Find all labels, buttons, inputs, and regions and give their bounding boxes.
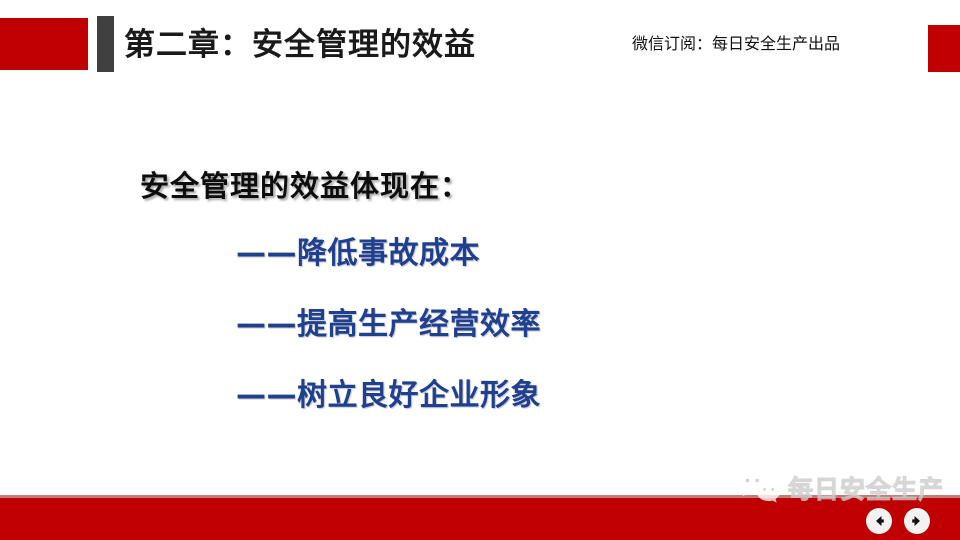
slide-title: 第二章：安全管理的效益 — [124, 24, 476, 66]
slide-navigation — [866, 508, 930, 534]
watermark-text: 每日安全生产 — [788, 470, 944, 506]
watermark: 每日安全生产 — [737, 470, 944, 506]
arrow-left-icon — [872, 514, 886, 528]
gray-accent-bar — [97, 16, 114, 72]
list-item: ——树立良好企业形象 — [236, 370, 541, 414]
next-slide-button[interactable] — [904, 508, 930, 534]
arrow-right-icon — [910, 514, 924, 528]
brand-subscription-note: 微信订阅：每日安全生产出品 — [632, 33, 840, 55]
prev-slide-button[interactable] — [866, 508, 892, 534]
list-item: ——降低事故成本 — [236, 228, 541, 272]
list-item: ——提高生产经营效率 — [236, 299, 541, 343]
benefit-list: ——降低事故成本 ——提高生产经营效率 ——树立良好企业形象 — [236, 228, 541, 414]
red-accent-block-right — [928, 25, 960, 72]
red-accent-block-left — [0, 18, 88, 70]
content-heading: 安全管理的效益体现在： — [140, 163, 470, 205]
presentation-slide: 第二章：安全管理的效益 微信订阅：每日安全生产出品 安全管理的效益体现在： ——… — [0, 0, 960, 540]
wechat-logo-icon — [737, 470, 781, 506]
